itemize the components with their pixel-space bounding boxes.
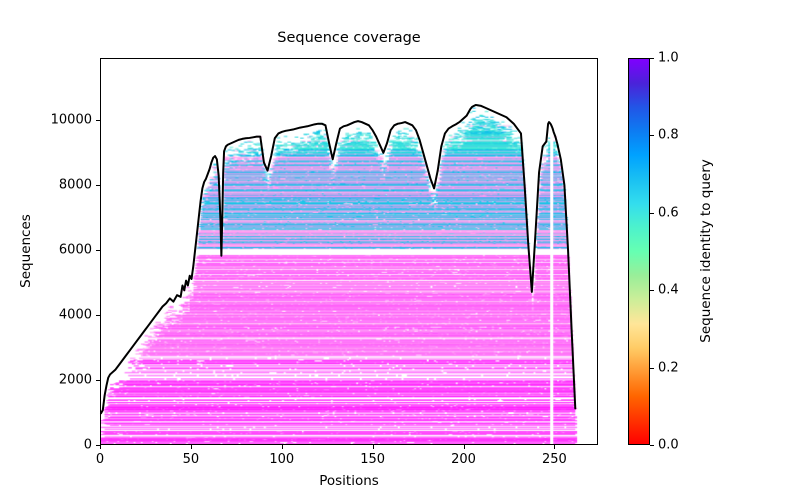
x-axis-ticklabels: 050100150200250 xyxy=(0,452,800,472)
y-tick-mark-4000 xyxy=(96,315,100,316)
colorbar-tick-label-0.4: 0.4 xyxy=(658,283,679,298)
x-tick-label-0: 0 xyxy=(96,452,104,467)
x-tick-mark-50 xyxy=(191,445,192,449)
y-axis-title: Sequences xyxy=(18,214,34,288)
colorbar-tick-mark-0.2 xyxy=(650,368,654,369)
colorbar-tick-label-0.6: 0.6 xyxy=(658,205,679,220)
colorbar-tick-label-0.2: 0.2 xyxy=(658,360,679,375)
y-axis-ticklabels: 0200040006000800010000 xyxy=(0,0,92,500)
colorbar-tick-mark-0.0 xyxy=(650,445,654,446)
y-tick-mark-10000 xyxy=(96,120,100,121)
x-tick-label-50: 50 xyxy=(183,452,200,467)
x-tick-mark-200 xyxy=(464,445,465,449)
x-tick-label-100: 100 xyxy=(269,452,294,467)
y-tick-label-0: 0 xyxy=(84,438,92,453)
y-tick-label-6000: 6000 xyxy=(59,242,92,257)
y-tick-label-4000: 4000 xyxy=(59,307,92,322)
x-axis-title: Positions xyxy=(319,473,379,489)
y-tick-mark-2000 xyxy=(96,380,100,381)
colorbar-gradient[interactable] xyxy=(628,58,650,445)
colorbar-tick-mark-0.8 xyxy=(650,135,654,136)
x-tick-label-200: 200 xyxy=(451,452,476,467)
x-tick-mark-250 xyxy=(554,445,555,449)
colorbar-tick-mark-0.4 xyxy=(650,290,654,291)
x-tick-label-150: 150 xyxy=(360,452,385,467)
x-tick-mark-0 xyxy=(100,445,101,449)
coverage-curve-layer xyxy=(101,59,597,444)
y-axis-title-wrap: Sequences xyxy=(34,0,35,500)
colorbar-tick-label-1.0: 1.0 xyxy=(658,51,679,66)
plot-axes[interactable] xyxy=(100,58,598,445)
x-tick-mark-100 xyxy=(282,445,283,449)
y-tick-label-10000: 10000 xyxy=(51,112,92,127)
colorbar-title: Sequence identity to query xyxy=(698,159,714,343)
y-tick-label-8000: 8000 xyxy=(59,177,92,192)
colorbar-tick-label-0.0: 0.0 xyxy=(658,438,679,453)
colorbar-tick-mark-1.0 xyxy=(650,58,654,59)
x-tick-mark-150 xyxy=(373,445,374,449)
plot-title: Sequence coverage xyxy=(100,30,598,46)
colorbar-tick-label-0.8: 0.8 xyxy=(658,128,679,143)
figure-canvas: Sequence coverage 0200040006000800010000… xyxy=(0,0,800,500)
x-tick-label-250: 250 xyxy=(542,452,567,467)
y-tick-mark-8000 xyxy=(96,185,100,186)
y-tick-mark-6000 xyxy=(96,250,100,251)
y-tick-label-2000: 2000 xyxy=(59,372,92,387)
coverage-line xyxy=(101,105,575,413)
colorbar-tick-mark-0.6 xyxy=(650,213,654,214)
